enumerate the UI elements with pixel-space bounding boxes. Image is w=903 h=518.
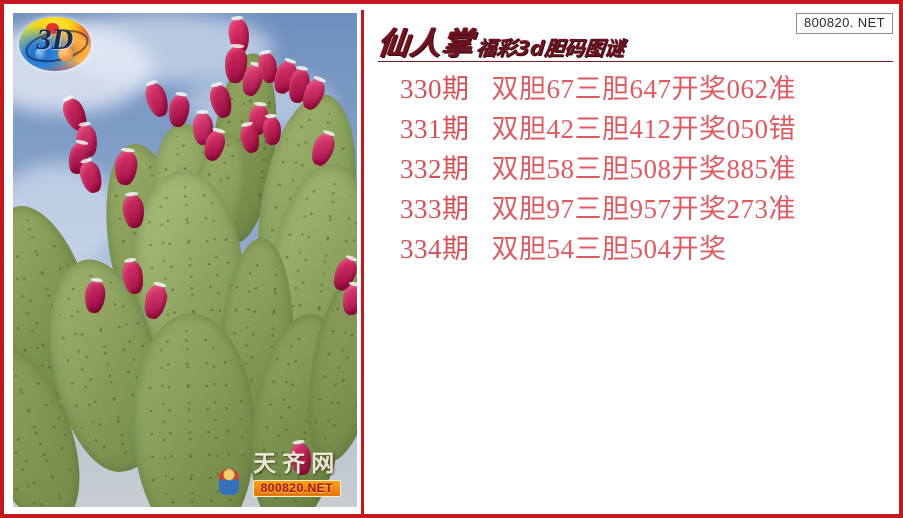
watermark-mascot-icon [219,469,239,495]
page-subtitle: 福彩3d胆码图谜 [475,38,626,60]
3d-lottery-logo-icon: 3D [19,17,91,71]
forecast-body: 双胆54三胆504开奖 [492,236,727,263]
page-title: 仙人掌 [376,29,475,60]
forecast-body: 双胆67三胆647开奖062准 [492,76,797,103]
watermark-site-name: 天齐网 [253,453,341,476]
issue-number: 331期 [400,116,470,143]
issue-number: 334期 [400,236,470,263]
logo-glyph: 3D [19,25,91,55]
forecast-list: 330期 双胆67三胆647开奖062准 331期 双胆42三胆412开奖050… [378,76,893,263]
list-item: 331期 双胆42三胆412开奖050错 [400,116,893,143]
list-item: 333期 双胆97三胆957开奖273准 [400,196,893,223]
forecast-body: 双胆58三胆508开奖885准 [492,156,797,183]
content-panel: 仙人掌 福彩3d胆码图谜 800820. NET 330期 双胆67三胆647开… [364,10,901,516]
photo-watermark: 天齐网 800820.NET [253,453,341,497]
list-item: 334期 双胆54三胆504开奖 [400,236,893,263]
watermark-site-url: 800820.NET [253,480,341,497]
photo-panel: 3D 天齐网 800820.NET [10,10,364,516]
site-badge: 800820. NET [796,13,893,34]
cactus-fruit [142,81,172,120]
list-item: 332期 双胆58三胆508开奖885准 [400,156,893,183]
issue-number: 333期 [400,196,470,223]
title-bar: 仙人掌 福彩3d胆码图谜 800820. NET [378,16,893,62]
issue-number: 330期 [400,76,470,103]
poster-frame: 3D 天齐网 800820.NET 仙人掌 福彩3d胆码图谜 800820. N… [0,0,903,518]
issue-number: 332期 [400,156,470,183]
poster-inner: 3D 天齐网 800820.NET 仙人掌 福彩3d胆码图谜 800820. N… [8,8,903,518]
list-item: 330期 双胆67三胆647开奖062准 [400,76,893,103]
forecast-body: 双胆42三胆412开奖050错 [492,116,797,143]
forecast-body: 双胆97三胆957开奖273准 [492,196,797,223]
cactus-photo: 3D 天齐网 800820.NET [13,13,357,507]
